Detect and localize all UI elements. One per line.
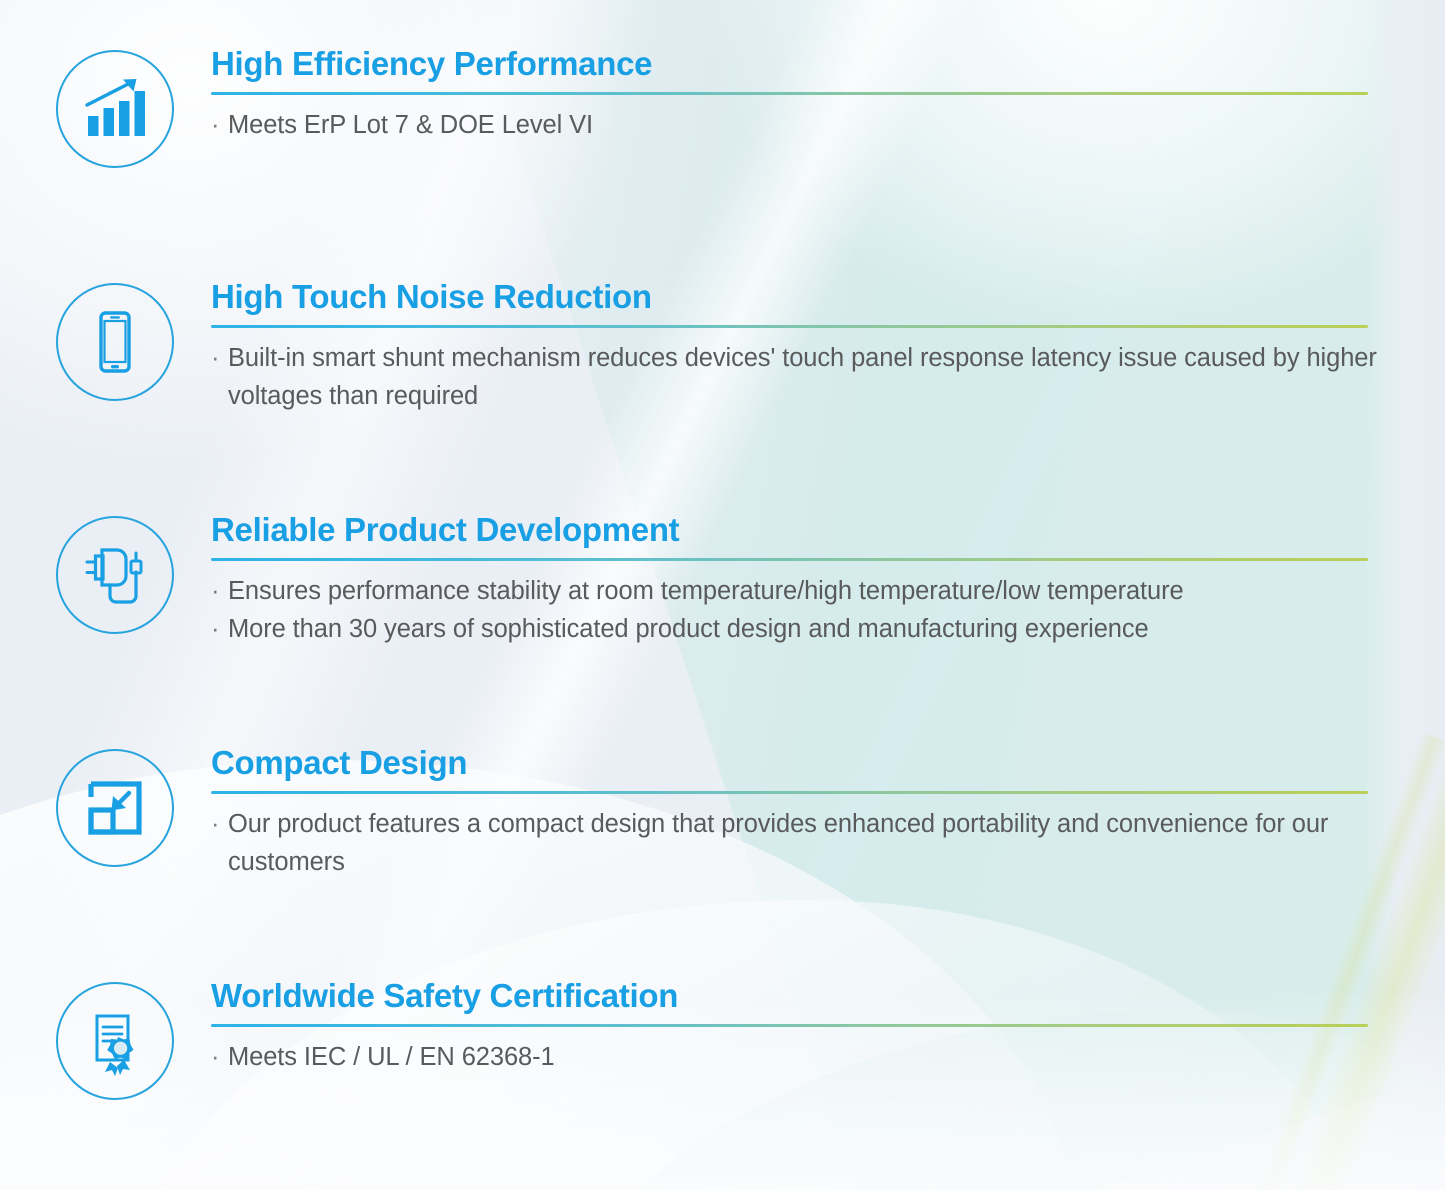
- icon-circle-frame: [56, 982, 174, 1100]
- feature-item-compact-design: Compact Design · Our product features a …: [0, 745, 1445, 881]
- bullet-marker: ·: [211, 805, 228, 843]
- bullet-marker: ·: [211, 106, 228, 144]
- feature-text-column: High Efficiency Performance · Meets ErP …: [211, 46, 1445, 144]
- bullet-item: · Ensures performance stability at room …: [211, 572, 1445, 610]
- bullet-text: Ensures performance stability at room te…: [228, 572, 1445, 610]
- feature-text-column: High Touch Noise Reduction · Built-in sm…: [211, 279, 1445, 415]
- feature-item-high-touch-noise-reduction: High Touch Noise Reduction · Built-in sm…: [0, 279, 1445, 415]
- bullet-item: · More than 30 years of sophisticated pr…: [211, 610, 1445, 648]
- bullet-text: Built-in smart shunt mechanism reduces d…: [228, 339, 1378, 416]
- bar-chart-growth-icon: [78, 72, 152, 146]
- bullet-marker: ·: [211, 572, 228, 610]
- feature-bullets: · Ensures performance stability at room …: [211, 572, 1445, 649]
- feature-title: Worldwide Safety Certification: [211, 978, 1445, 1015]
- smartphone-icon: [78, 305, 152, 379]
- bullet-text: More than 30 years of sophisticated prod…: [228, 610, 1445, 648]
- bullet-text: Meets ErP Lot 7 & DOE Level VI: [228, 106, 1445, 144]
- certificate-award-icon: [78, 1004, 152, 1078]
- bullet-text: Our product features a compact design th…: [228, 805, 1378, 882]
- feature-divider: [211, 558, 1368, 561]
- bullet-marker: ·: [211, 339, 228, 377]
- feature-divider: [211, 791, 1368, 794]
- feature-bullets: · Built-in smart shunt mechanism reduces…: [211, 339, 1445, 416]
- feature-text-column: Reliable Product Development · Ensures p…: [211, 512, 1445, 648]
- icon-circle-frame: [56, 50, 174, 168]
- compact-resize-icon: [78, 771, 152, 845]
- feature-divider: [211, 92, 1368, 95]
- feature-divider: [211, 325, 1368, 328]
- feature-title: High Efficiency Performance: [211, 46, 1445, 83]
- feature-title: Reliable Product Development: [211, 512, 1445, 549]
- icon-container: [52, 745, 178, 867]
- feature-title: High Touch Noise Reduction: [211, 279, 1445, 316]
- feature-text-column: Worldwide Safety Certification · Meets I…: [211, 978, 1445, 1076]
- icon-container: [52, 512, 178, 634]
- feature-bullets: · Our product features a compact design …: [211, 805, 1445, 882]
- icon-container: [52, 279, 178, 401]
- feature-item-reliable-product-development: Reliable Product Development · Ensures p…: [0, 512, 1445, 648]
- feature-list: High Efficiency Performance · Meets ErP …: [0, 0, 1445, 1190]
- bullet-item: · Built-in smart shunt mechanism reduces…: [211, 339, 1445, 416]
- feature-bullets: · Meets ErP Lot 7 & DOE Level VI: [211, 106, 1445, 144]
- bullet-item: · Our product features a compact design …: [211, 805, 1445, 882]
- icon-circle-frame: [56, 283, 174, 401]
- feature-title: Compact Design: [211, 745, 1445, 782]
- bullet-text: Meets IEC / UL / EN 62368-1: [228, 1038, 1445, 1076]
- bullet-marker: ·: [211, 610, 228, 648]
- icon-container: [52, 46, 178, 168]
- icon-circle-frame: [56, 516, 174, 634]
- feature-item-high-efficiency-performance: High Efficiency Performance · Meets ErP …: [0, 46, 1445, 168]
- feature-divider: [211, 1024, 1368, 1027]
- power-adapter-icon: [76, 536, 154, 614]
- bullet-marker: ·: [211, 1038, 228, 1076]
- icon-container: [52, 978, 178, 1100]
- bullet-item: · Meets ErP Lot 7 & DOE Level VI: [211, 106, 1445, 144]
- bullet-item: · Meets IEC / UL / EN 62368-1: [211, 1038, 1445, 1076]
- feature-text-column: Compact Design · Our product features a …: [211, 745, 1445, 881]
- feature-item-worldwide-safety-certification: Worldwide Safety Certification · Meets I…: [0, 978, 1445, 1100]
- feature-bullets: · Meets IEC / UL / EN 62368-1: [211, 1038, 1445, 1076]
- icon-circle-frame: [56, 749, 174, 867]
